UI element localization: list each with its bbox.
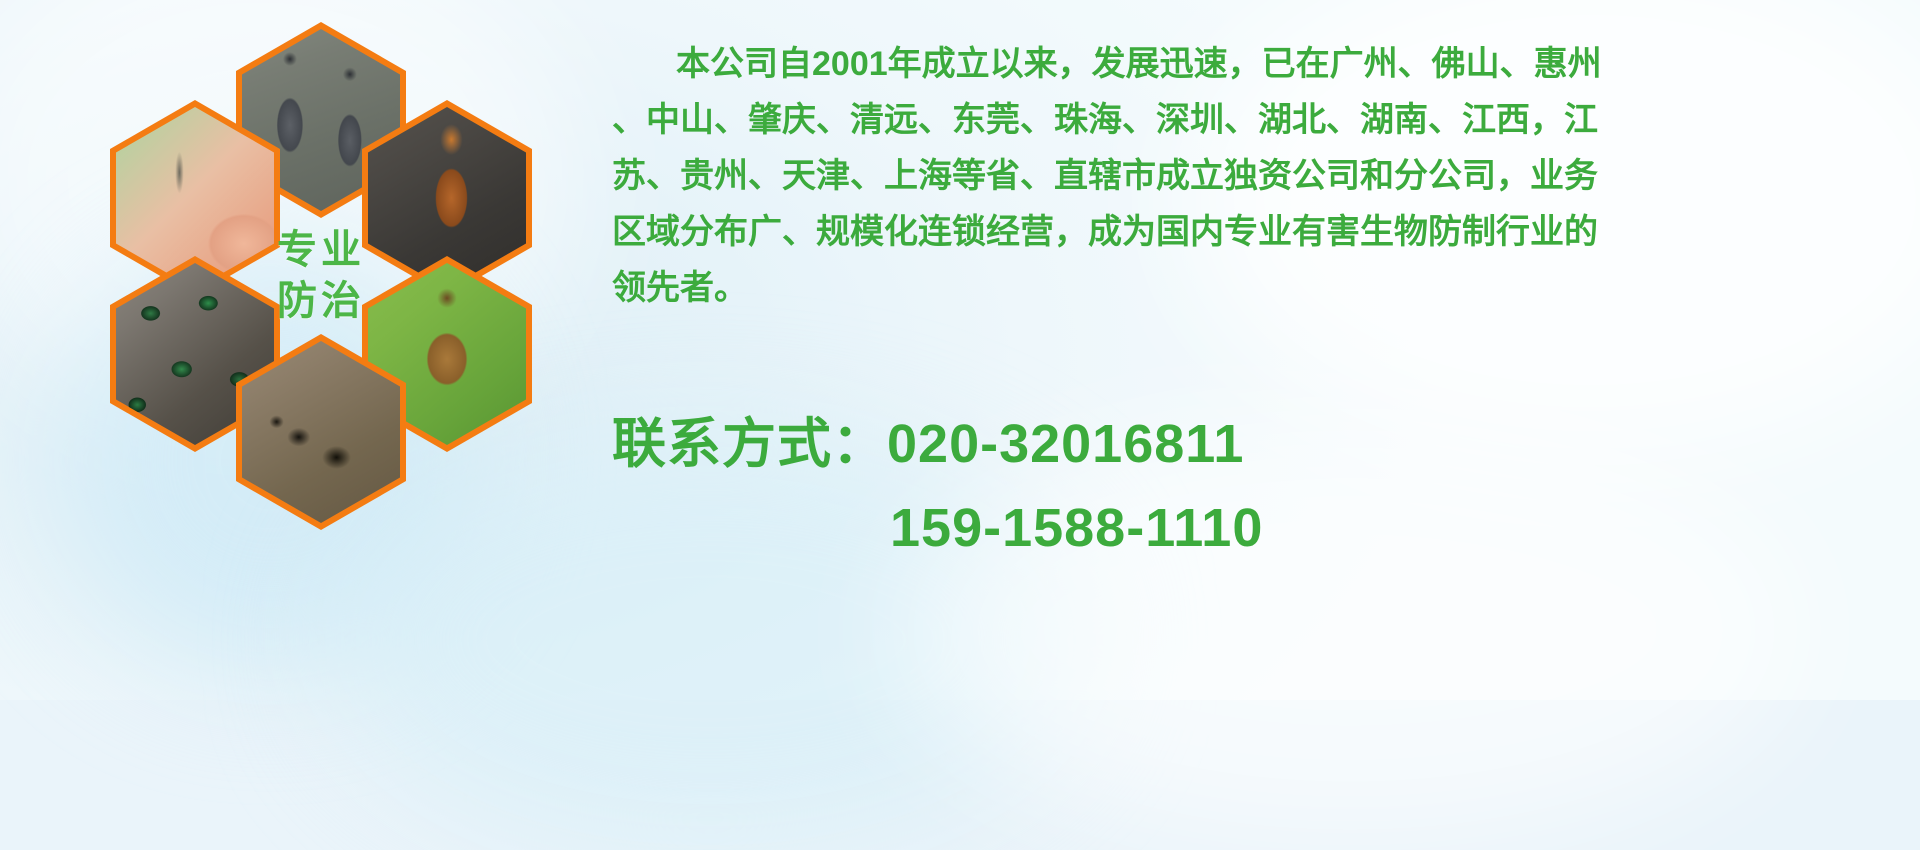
hex-photo-collage: 专业 防治 [84, 8, 584, 568]
intro-line-2: 、中山、肇庆、清远、东莞、珠海、深圳、湖北、湖南、江西，江 [612, 92, 1892, 148]
center-badge-line1: 专业 [277, 225, 365, 276]
intro-line-3: 苏、贵州、天津、上海等省、直辖市成立独资公司和分公司，业务 [612, 148, 1892, 204]
intro-line-4: 区域分布广、规模化连锁经营，成为国内专业有害生物防制行业的 [612, 204, 1892, 260]
intro-line-1: 本公司自2001年成立以来，发展迅速，已在广州、佛山、惠州 [612, 36, 1892, 92]
contact-phone-secondary[interactable]: 159-1588-1110 [612, 486, 1912, 570]
contact-phone-primary[interactable]: 联系方式：020-32016811 [612, 402, 1912, 486]
intro-paragraph: 本公司自2001年成立以来，发展迅速，已在广州、佛山、惠州 、中山、肇庆、清远、… [612, 36, 1892, 316]
contact-block: 联系方式：020-32016811 159-1588-1110 [612, 402, 1912, 570]
banner-root: 专业 防治 本公司自2001年成立以来，发展迅速，已在广州、佛山、惠州 、中山、… [0, 0, 1920, 700]
intro-line-5: 领先者。 [612, 260, 1892, 316]
center-badge-line2: 防治 [277, 276, 365, 327]
